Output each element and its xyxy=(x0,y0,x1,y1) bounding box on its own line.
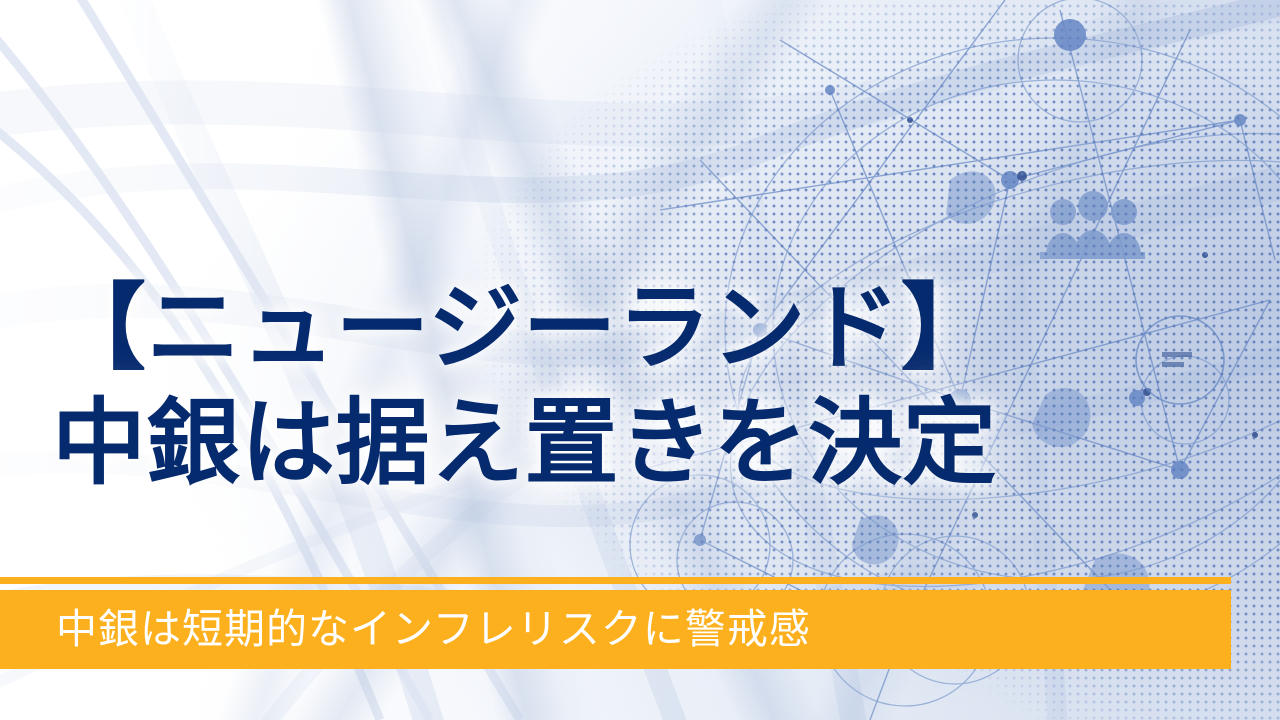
headline-line-2: 中銀は据え置きを決定 xyxy=(52,387,1242,502)
headline-card: 【ニュージーランド】 中銀は据え置きを決定 中銀は短期的なインフレリスクに警戒感 xyxy=(0,0,1280,720)
people-group-icon xyxy=(1040,191,1145,259)
subtitle-band: 中銀は短期的なインフレリスクに警戒感 xyxy=(0,590,1231,669)
subtitle-text: 中銀は短期的なインフレリスクに警戒感 xyxy=(0,609,811,650)
headline-line-1: 【ニュージーランド】 xyxy=(52,272,1242,387)
accent-rule xyxy=(0,577,1231,584)
page-title: 【ニュージーランド】 中銀は据え置きを決定 xyxy=(52,272,1242,501)
